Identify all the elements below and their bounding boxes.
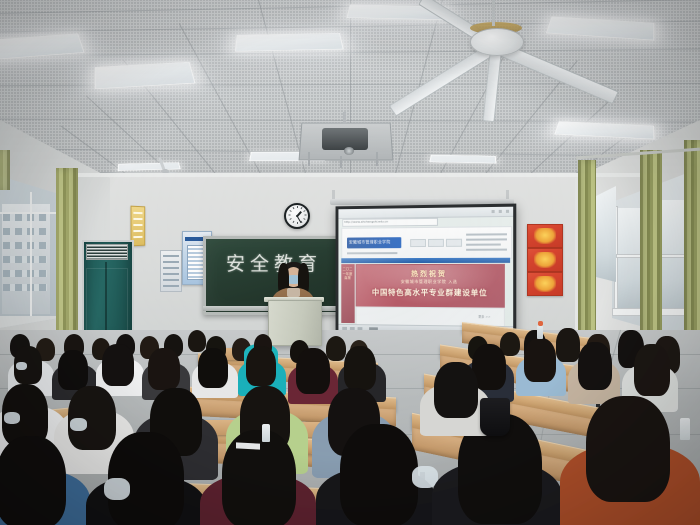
audience-front-rows — [0, 0, 700, 525]
student-head — [586, 396, 670, 502]
student-head — [434, 362, 478, 418]
hanging-bag — [480, 398, 510, 436]
water-bottle — [680, 418, 690, 440]
face-mask — [70, 418, 87, 431]
water-bottle — [262, 424, 270, 442]
student-head — [340, 424, 418, 525]
classroom-photo: 安全教育 http://www.ahchengshi.edu.cn 安徽城市管理… — [0, 0, 700, 525]
water-bottle — [537, 325, 543, 339]
face-mask — [104, 478, 130, 500]
water-bottle — [538, 321, 543, 326]
face-mask — [4, 412, 20, 424]
notebook — [236, 442, 260, 449]
student-head — [0, 436, 66, 525]
